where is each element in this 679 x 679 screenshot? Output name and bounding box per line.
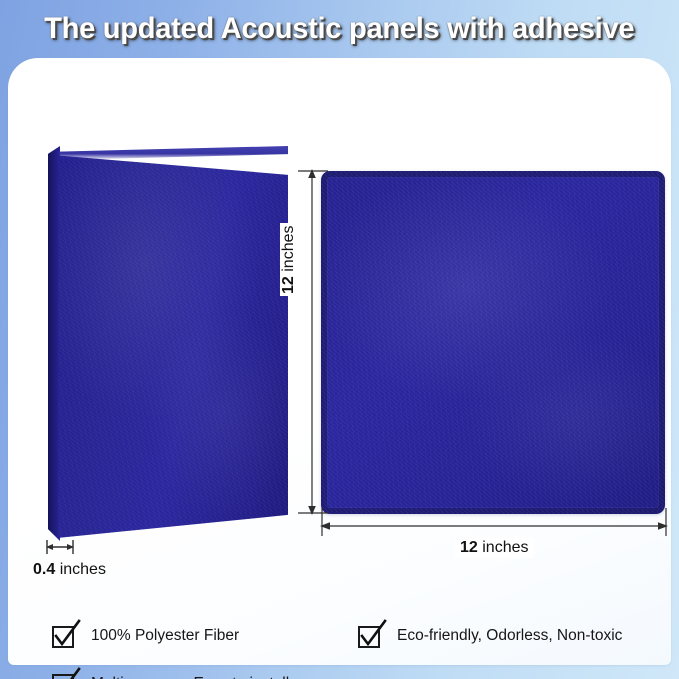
horizontal-dimension-unit: inches bbox=[482, 539, 528, 556]
checkbox-checked-icon bbox=[358, 623, 384, 649]
panel-side-edge bbox=[48, 146, 60, 541]
feature-label: 100% Polyester Fiber bbox=[91, 627, 239, 645]
panel-front-face bbox=[57, 146, 288, 541]
feature-label: Eco-friendly, Odorless, Non-toxic bbox=[397, 627, 622, 645]
horizontal-dimension-line bbox=[316, 506, 672, 540]
product-infographic: The updated Acoustic panels with adhesiv… bbox=[0, 0, 679, 679]
list-item: Eco-friendly, Odorless, Non-toxic bbox=[358, 623, 622, 649]
checkmark-glyph bbox=[356, 617, 390, 651]
vertical-dimension-label: 12 inches bbox=[280, 224, 298, 297]
vertical-dimension-value: 12 bbox=[280, 276, 297, 294]
checkmark-glyph bbox=[50, 617, 84, 651]
feature-label: Multi-purpose, Easy to install bbox=[91, 675, 289, 679]
horizontal-dimension-label: 12 inches bbox=[455, 538, 534, 558]
checkbox-checked-icon bbox=[52, 623, 78, 649]
thickness-dimension-label: 0.4 inches bbox=[33, 561, 106, 579]
list-item: Multi-purpose, Easy to install bbox=[52, 671, 289, 679]
title-banner: The updated Acoustic panels with adhesiv… bbox=[0, 0, 679, 58]
checkmark-glyph bbox=[50, 665, 84, 679]
acoustic-panel-perspective bbox=[48, 146, 288, 541]
thickness-dimension-unit: inches bbox=[60, 561, 106, 578]
thickness-dimension-value: 0.4 bbox=[33, 561, 55, 578]
vertical-dimension-unit: inches bbox=[280, 226, 297, 272]
horizontal-dimension-value: 12 bbox=[460, 539, 478, 556]
list-item: 100% Polyester Fiber bbox=[52, 623, 239, 649]
content-card: 12 inches 12 inches 0.4 inches bbox=[8, 58, 671, 665]
vertical-dimension-line bbox=[294, 163, 328, 523]
panel-top-edge bbox=[57, 146, 288, 160]
page-title: The updated Acoustic panels with adhesiv… bbox=[44, 13, 634, 45]
thickness-dimension-line bbox=[44, 538, 86, 560]
acoustic-panel-front bbox=[321, 171, 665, 514]
checkbox-checked-icon bbox=[52, 671, 78, 679]
